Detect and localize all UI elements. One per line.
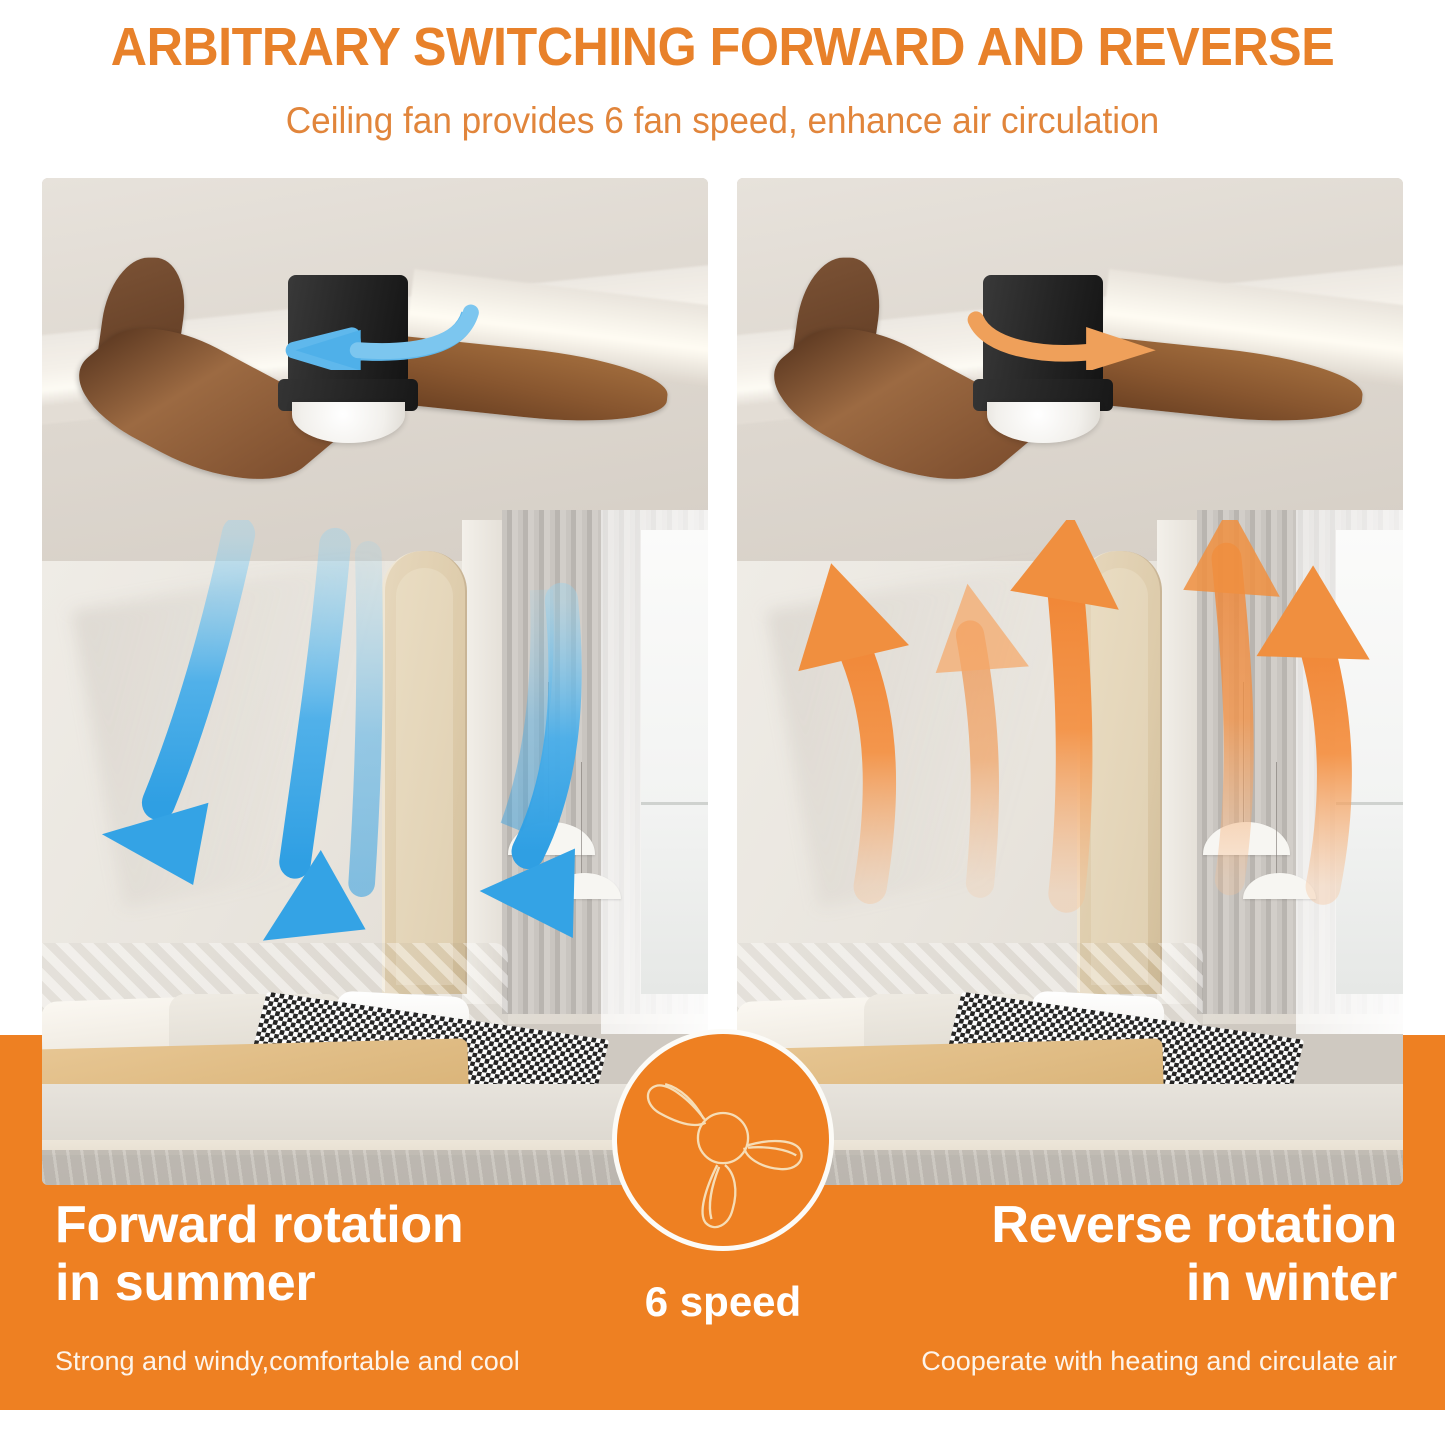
rotation-arrow-left-blue-icon bbox=[222, 298, 528, 371]
pendant-lamp-wire-2 bbox=[581, 762, 582, 883]
footer-right-heading-line1: Reverse rotation bbox=[991, 1196, 1397, 1254]
fan-blade-icon bbox=[617, 1034, 829, 1246]
photo-panel-forward bbox=[42, 178, 708, 1185]
page-subtitle: Ceiling fan provides 6 fan speed, enhanc… bbox=[36, 100, 1409, 142]
footer-left-heading-line1: Forward rotation bbox=[55, 1196, 463, 1254]
footer-right-heading: Reverse rotation in winter bbox=[837, 1196, 1397, 1312]
photo-panel-reverse bbox=[737, 178, 1403, 1185]
ceiling-fan-forward bbox=[42, 198, 708, 651]
pendant-lamp-wire-1 bbox=[1243, 682, 1244, 833]
pendant-lamp-wire-1 bbox=[548, 682, 549, 833]
window-frame-bar bbox=[1336, 802, 1403, 805]
pendant-lamp-wire-2 bbox=[1276, 762, 1277, 883]
footer-left-subtext: Strong and windy,comfortable and cool bbox=[55, 1346, 575, 1377]
footer-right-heading-line2: in winter bbox=[1186, 1254, 1397, 1312]
speed-badge-label: 6 speed bbox=[613, 1278, 833, 1326]
rotation-arrow-right-orange-icon bbox=[917, 298, 1223, 371]
product-feature-banner: ARBITRARY SWITCHING FORWARD AND REVERSE … bbox=[0, 0, 1445, 1445]
footer-right-block: Reverse rotation in winter Cooperate wit… bbox=[837, 1196, 1397, 1377]
footer-right-subtext: Cooperate with heating and circulate air bbox=[837, 1346, 1397, 1377]
rug bbox=[42, 1150, 708, 1185]
footer-left-block: Forward rotation in summer Strong and wi… bbox=[55, 1196, 575, 1377]
footer-left-heading-line2: in summer bbox=[55, 1254, 315, 1312]
footer-left-heading: Forward rotation in summer bbox=[55, 1196, 575, 1312]
page-title: ARBITRARY SWITCHING FORWARD AND REVERSE bbox=[51, 16, 1395, 78]
rug bbox=[737, 1150, 1403, 1185]
speed-badge bbox=[612, 1029, 834, 1251]
ceiling-fan-reverse bbox=[737, 198, 1403, 651]
window-frame-bar bbox=[641, 802, 708, 805]
header: ARBITRARY SWITCHING FORWARD AND REVERSE … bbox=[0, 0, 1445, 170]
